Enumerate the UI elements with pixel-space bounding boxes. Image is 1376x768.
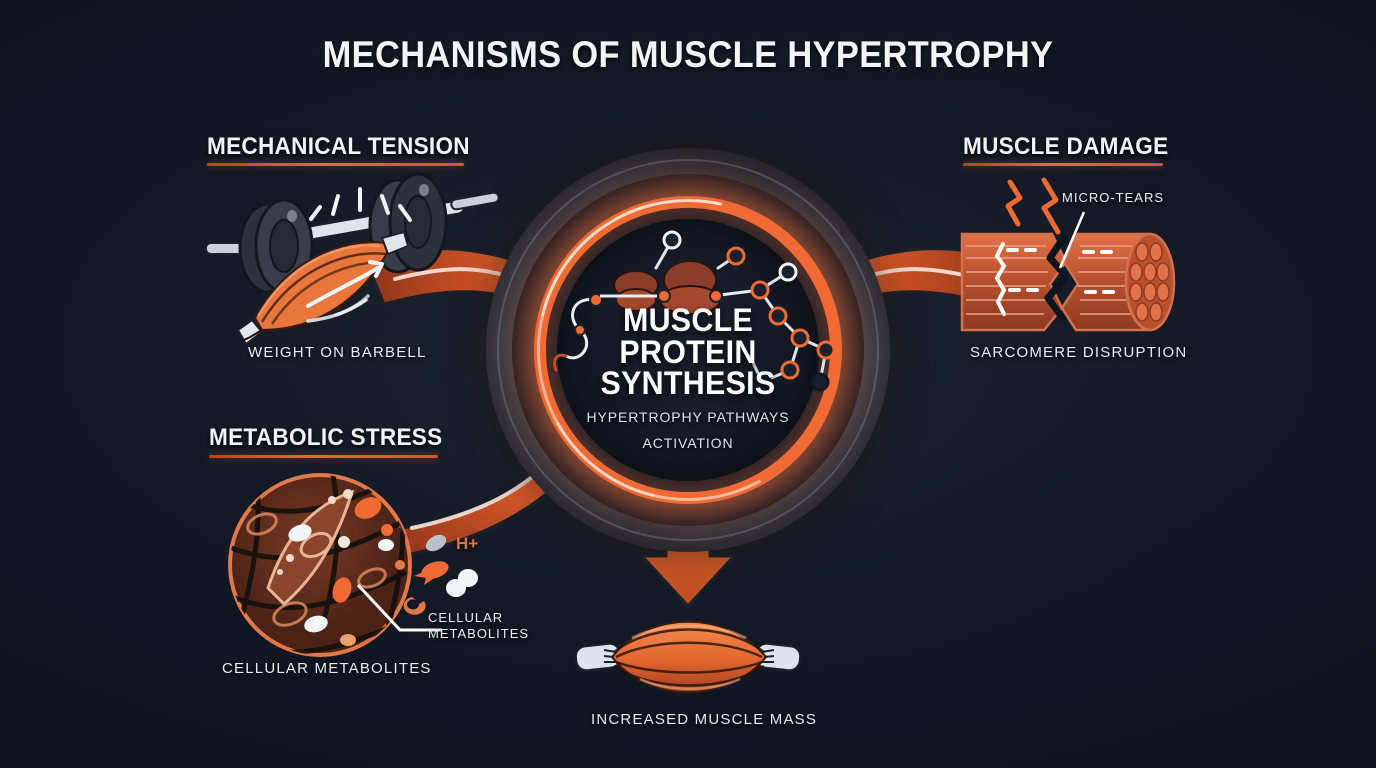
infographic-canvas: MECHANISMS OF MUSCLE HYPERTROPHY: [0, 0, 1376, 768]
hub-title-line-1: MUSCLE: [565, 305, 812, 337]
hub-subtitle-line-2: ACTIVATION: [558, 435, 818, 452]
hub-text-block: MUSCLE PROTEIN SYNTHESIS HYPERTROPHY PAT…: [558, 305, 818, 451]
hub-title-line-2: PROTEIN: [565, 337, 812, 369]
hub-title-line-3: SYNTHESIS: [565, 368, 812, 400]
hub-subtitle-line-1: HYPERTROPHY PATHWAYS: [558, 409, 818, 426]
